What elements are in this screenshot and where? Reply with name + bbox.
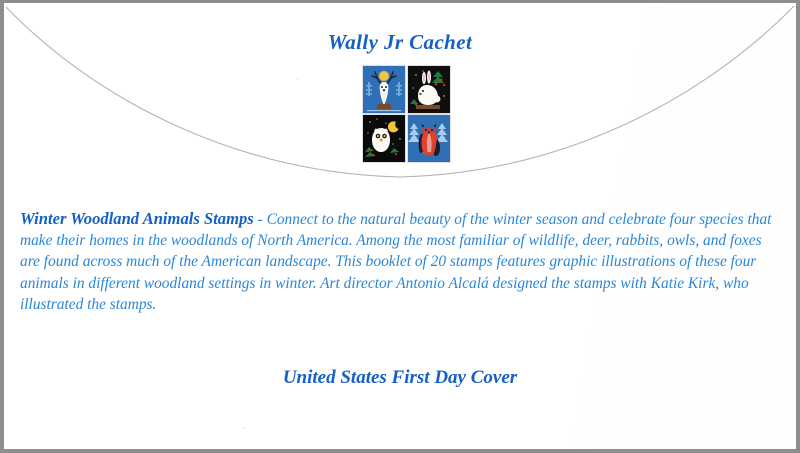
- envelope-paper: Wally Jr Cachet: [4, 3, 796, 449]
- cachet-description-lead: Winter Woodland Animals Stamps: [20, 209, 254, 228]
- stamp-owl[interactable]: [363, 115, 405, 162]
- stamp-block: [363, 66, 451, 166]
- cachet-description: Winter Woodland Animals Stamps - Connect…: [20, 208, 780, 315]
- paper-speckle: [242, 427, 246, 429]
- first-day-cover-image: Wally Jr Cachet: [0, 0, 800, 453]
- stamp-deer[interactable]: [363, 66, 405, 113]
- cachet-description-separator: -: [254, 211, 267, 228]
- paper-speckle: [296, 78, 299, 80]
- stamp-fox[interactable]: [408, 115, 450, 162]
- stamp-rabbit[interactable]: [408, 66, 450, 113]
- cover-footer-text: United States First Day Cover: [4, 367, 796, 389]
- cachet-title: Wally Jr Cachet: [4, 30, 796, 55]
